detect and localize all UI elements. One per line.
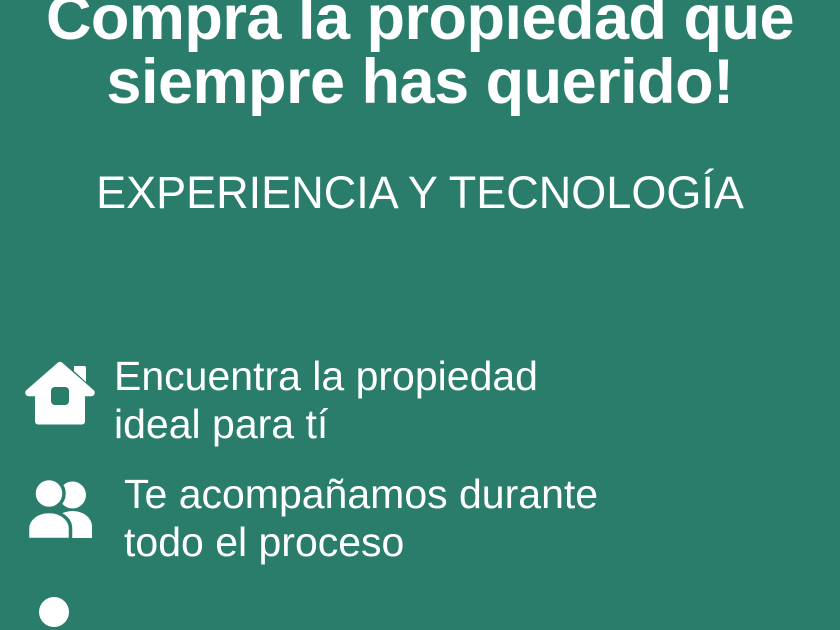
- list-item: [0, 588, 840, 630]
- page-subtitle: EXPERIENCIA Y TECNOLOGÍA: [0, 167, 840, 219]
- list-item: Te acompañamos durante todo el proceso: [0, 470, 840, 566]
- feature-list: Encuentra la propiedad ideal para tí Te …: [0, 352, 840, 630]
- person-icon: [0, 588, 106, 630]
- list-item-label: Encuentra la propiedad ideal para tí: [114, 352, 538, 448]
- list-item-label: Te acompañamos durante todo el proceso: [124, 470, 598, 566]
- list-item: Encuentra la propiedad ideal para tí: [0, 352, 840, 448]
- people-icon: [0, 470, 106, 542]
- page-title: Compra la propiedad que siempre has quer…: [0, 0, 840, 114]
- house-icon: [0, 352, 106, 426]
- promo-banner: Compra la propiedad que siempre has quer…: [0, 0, 840, 630]
